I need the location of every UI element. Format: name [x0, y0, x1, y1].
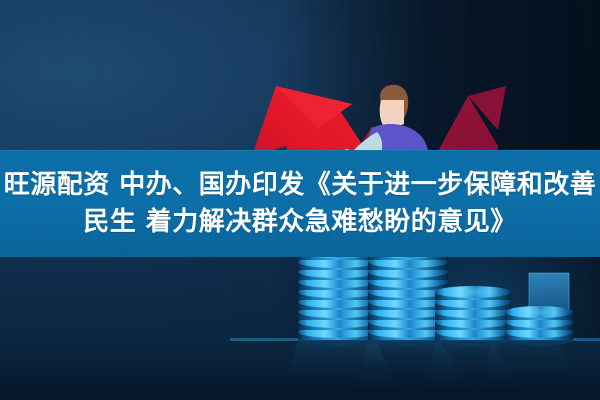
headline-line-1: 旺源配资 中办、国办印发《关于进一步保障和改善	[4, 167, 597, 204]
headline-band: 旺源配资 中办、国办印发《关于进一步保障和改善 民生 着力解决群众急难愁盼的意见…	[0, 150, 600, 257]
floor-reflection	[282, 340, 586, 392]
coin-stack-4	[505, 306, 573, 346]
coin-stack-3	[435, 286, 511, 346]
coin-stack-1	[298, 245, 378, 346]
headline-line-2: 民生 着力解决群众急难愁盼的意见》	[83, 204, 517, 241]
banner-image: 旺源配资 中办、国办印发《关于进一步保障和改善 民生 着力解决群众急难愁盼的意见…	[0, 0, 600, 400]
